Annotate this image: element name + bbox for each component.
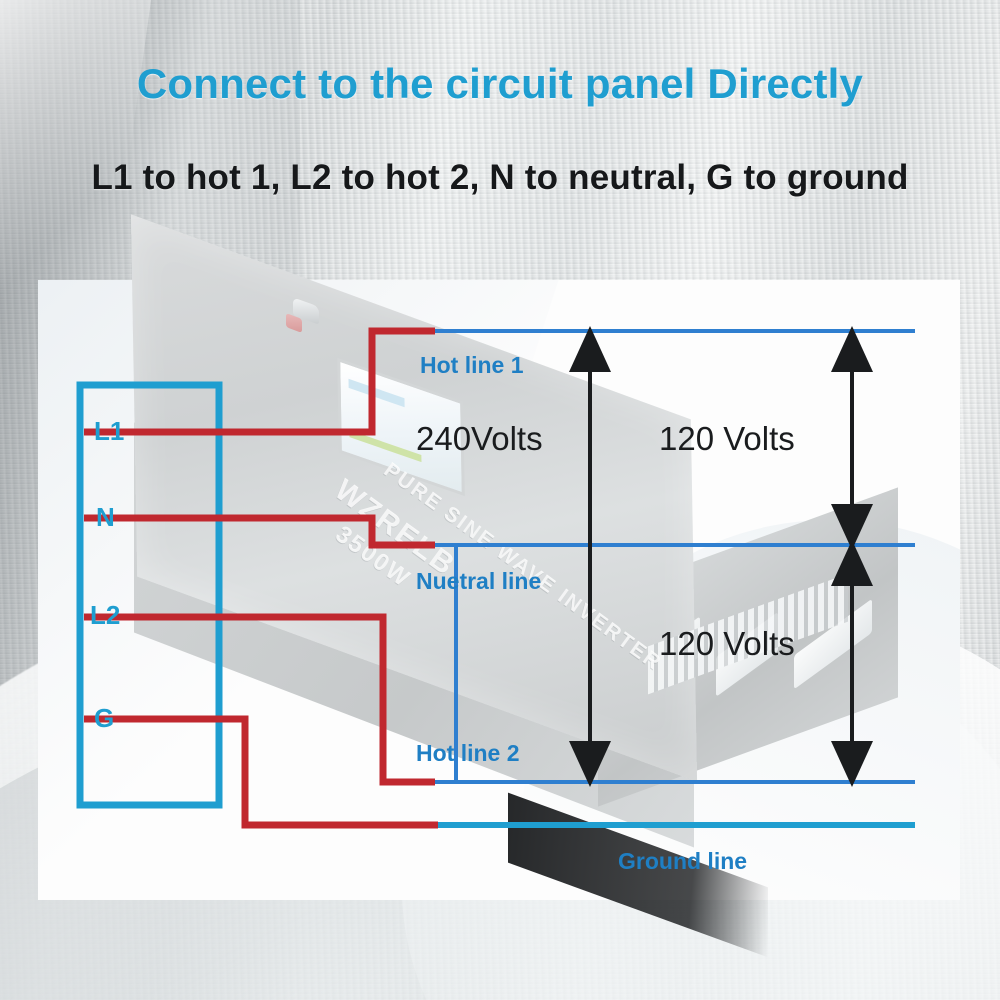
terminal-label-g: G: [94, 703, 114, 734]
wire-n-to-neutral: [84, 518, 435, 545]
voltage-label-120-lower: 120 Volts: [659, 625, 795, 663]
diagram-panel: WZRELB 3500W PURE SINE WAVE INVERTER: [38, 280, 960, 900]
page-subtitle: L1 to hot 1, L2 to hot 2, N to neutral, …: [0, 158, 1000, 198]
circuit-panel-box: [80, 385, 219, 805]
terminal-label-n: N: [96, 502, 115, 533]
terminal-label-l1: L1: [94, 416, 124, 447]
page-title: Connect to the circuit panel Directly: [0, 60, 1000, 108]
terminal-label-l2: L2: [90, 600, 120, 631]
label-hot-line-1: Hot line 1: [420, 352, 524, 379]
label-ground-line: Ground line: [618, 848, 747, 875]
wire-l2-to-hot2: [84, 617, 435, 782]
label-hot-line-2: Hot line 2: [416, 740, 520, 767]
voltage-label-240: 240Volts: [416, 420, 543, 458]
label-neutral-line: Nuetral line: [416, 568, 541, 595]
screenshot-root: Connect to the circuit panel Directly L1…: [0, 0, 1000, 1000]
voltage-label-120-upper: 120 Volts: [659, 420, 795, 458]
